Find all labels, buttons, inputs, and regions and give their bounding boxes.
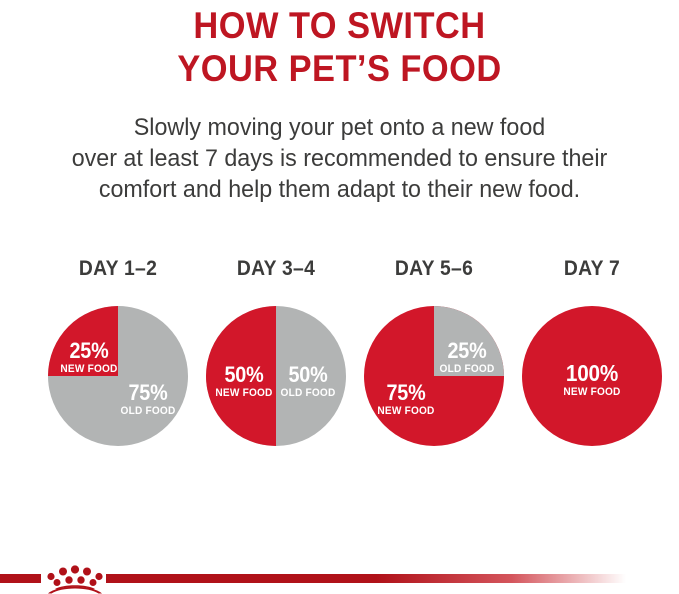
slice-percent: 25%: [436, 340, 499, 362]
slice-sublabel: OLD FOOD: [113, 406, 183, 417]
slice-percent: 100%: [529, 362, 655, 385]
crown-logo-icon: [42, 565, 108, 594]
day-label: DAY 7: [518, 258, 665, 280]
subtitle-line-1: Slowly moving your pet onto a new food: [17, 112, 662, 143]
day-label: DAY 3–4: [202, 258, 349, 280]
pie-chart-row: DAY 1–2 25% NEW FOOD 75% OLD FOOD DAY 3–…: [0, 258, 679, 458]
slice-sublabel: OLD FOOD: [435, 364, 499, 375]
slice-sublabel: NEW FOOD: [528, 387, 657, 398]
slice-label-old-food: 25% OLD FOOD: [432, 340, 502, 375]
pie-graphic: 50% NEW FOOD 50% OLD FOOD: [206, 306, 346, 446]
slice-percent: 50%: [215, 364, 273, 386]
slice-label-old-food: 75% OLD FOOD: [110, 382, 186, 417]
title-line-2: YOUR PET’S FOOD: [24, 47, 655, 90]
footer-rule-right: [106, 574, 626, 583]
subtitle-line-3: comfort and help them adapt to their new…: [17, 174, 662, 205]
page-title: HOW TO SWITCH YOUR PET’S FOOD: [0, 4, 679, 90]
slice-label-new-food: 100% NEW FOOD: [522, 362, 662, 398]
slice-label-new-food: 75% NEW FOOD: [368, 382, 444, 417]
pie-graphic: 100% NEW FOOD: [522, 306, 662, 446]
title-line-1: HOW TO SWITCH: [24, 4, 655, 47]
slice-label-new-food: 25% NEW FOOD: [54, 340, 124, 375]
slice-label-new-food: 50% NEW FOOD: [212, 364, 276, 399]
footer-rule-left: [0, 574, 41, 583]
pie-chart-day-1-2: DAY 1–2 25% NEW FOOD 75% OLD FOOD: [38, 258, 198, 446]
pie-graphic: 25% NEW FOOD 75% OLD FOOD: [48, 306, 188, 446]
slice-percent: 75%: [114, 382, 182, 404]
day-label: DAY 1–2: [44, 258, 191, 280]
footer: [0, 565, 679, 594]
slice-sublabel: NEW FOOD: [371, 406, 441, 417]
pie-chart-day-3-4: DAY 3–4 50% NEW FOOD 50% OLD FOOD: [196, 258, 356, 446]
day-label: DAY 5–6: [360, 258, 507, 280]
slice-percent: 75%: [372, 382, 440, 404]
pie-chart-day-7: DAY 7 100% NEW FOOD: [512, 258, 672, 446]
slice-percent: 25%: [58, 340, 121, 362]
pie-graphic: 25% OLD FOOD 75% NEW FOOD: [364, 306, 504, 446]
slice-sublabel: NEW FOOD: [215, 388, 274, 399]
subtitle-line-2: over at least 7 days is recommended to e…: [17, 143, 662, 174]
subtitle: Slowly moving your pet onto a new food o…: [0, 112, 679, 205]
pie-chart-day-5-6: DAY 5–6 25% OLD FOOD 75% NEW FOOD: [354, 258, 514, 446]
slice-sublabel: NEW FOOD: [57, 364, 121, 375]
slice-label-old-food: 50% OLD FOOD: [276, 364, 340, 399]
slice-percent: 50%: [279, 364, 337, 386]
slice-sublabel: OLD FOOD: [279, 388, 338, 399]
